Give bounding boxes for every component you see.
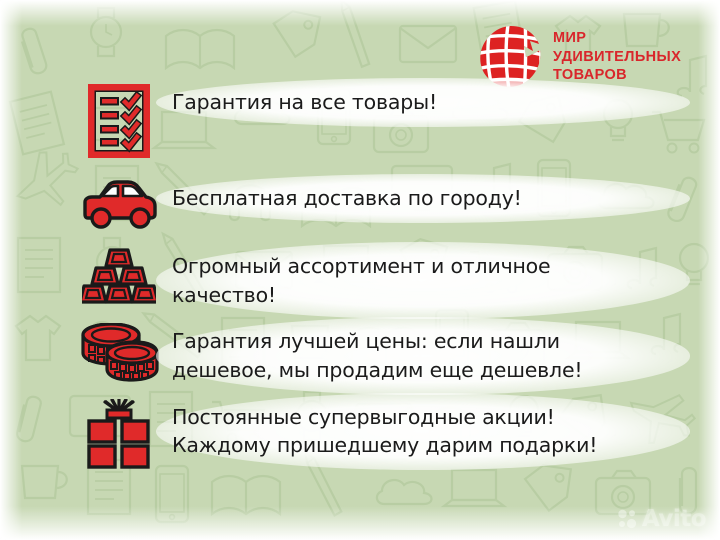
benefit-text-promotions: Постоянные супервыгодные акции! Каждому … <box>162 399 676 464</box>
benefit-line: Огромный ассортимент и отличное <box>172 252 662 281</box>
avito-wordmark: Avito <box>642 506 706 532</box>
avito-watermark: Avito <box>617 506 706 532</box>
benefit-line: Бесплатная доставка по городу! <box>172 184 662 213</box>
benefit-text-warranty: Гарантия на все товары! <box>162 84 676 121</box>
benefit-item-best-price: Гарантия лучшей цены: если нашли дешевое… <box>76 323 676 388</box>
benefit-text-assortment: Огромный ассортимент и отличное качество… <box>162 248 676 313</box>
checklist-icon <box>76 84 162 158</box>
car-icon <box>76 180 162 230</box>
brand-name-line-2: УДИВИТЕЛЬНЫХ <box>553 48 681 67</box>
benefit-item-warranty: Гарантия на все товары! <box>76 84 676 158</box>
gold-bars-icon <box>76 248 162 306</box>
benefit-item-delivery: Бесплатная доставка по городу! <box>76 180 676 230</box>
benefit-line: качество! <box>172 281 662 310</box>
benefit-text-delivery: Бесплатная доставка по городу! <box>162 180 676 217</box>
benefit-line: Постоянные супервыгодные акции! <box>172 403 662 432</box>
benefits-list: Гарантия на все товары! Бесплатная доста… <box>76 84 676 469</box>
benefit-item-assortment: Огромный ассортимент и отличное качество… <box>76 248 676 313</box>
benefit-line: дешевое, мы продадим еще дешевле! <box>172 356 662 385</box>
benefit-text-best-price: Гарантия лучшей цены: если нашли дешевое… <box>162 323 676 388</box>
benefit-item-promotions: Постоянные супервыгодные акции! Каждому … <box>76 399 676 469</box>
gift-box-icon <box>76 399 162 469</box>
benefit-line: Гарантия на все товары! <box>172 88 662 117</box>
brand-name: МИР УДИВИТЕЛЬНЫХ ТОВАРОВ <box>553 29 681 85</box>
benefit-line: Каждому пришедшему дарим подарки! <box>172 431 662 460</box>
brand-name-line-1: МИР <box>553 29 681 48</box>
coin-stacks-icon <box>76 323 162 385</box>
benefit-line: Гарантия лучшей цены: если нашли <box>172 327 662 356</box>
advertisement-canvas: МИР УДИВИТЕЛЬНЫХ ТОВАРОВ <box>0 0 720 540</box>
avito-dots-icon <box>617 509 637 529</box>
